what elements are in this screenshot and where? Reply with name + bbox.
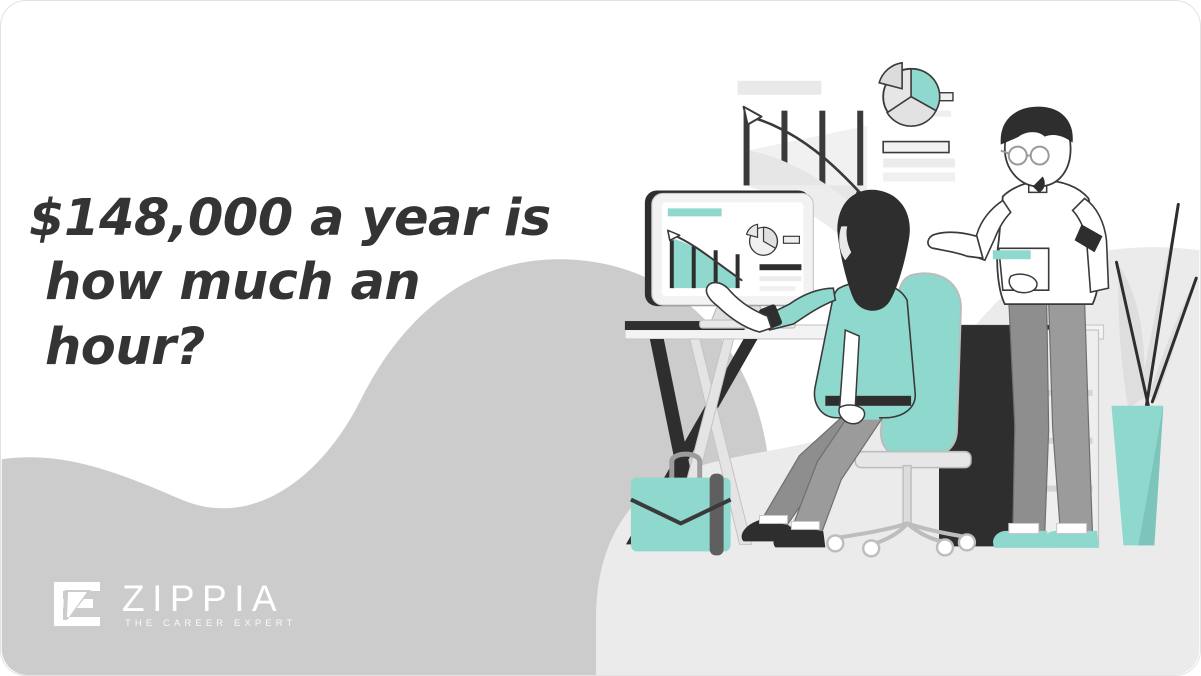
screen-text-bar-3 xyxy=(760,286,796,291)
headline-line-1: $148,000 a year is xyxy=(29,187,569,251)
placeholder-bar-2 xyxy=(883,159,955,168)
placeholder-bar-top xyxy=(738,81,822,95)
pointing-hand-man xyxy=(928,232,983,258)
brand-name: ZIPPIA xyxy=(122,580,296,618)
paper-highlight xyxy=(993,250,1031,259)
screen-text-bar-2 xyxy=(760,276,802,281)
placeholder-bar-3 xyxy=(883,172,955,181)
screen-title-bar xyxy=(668,208,722,216)
zippia-z-monogram-icon xyxy=(51,579,103,631)
page-title: $148,000 a year is how much an hour? xyxy=(29,187,569,380)
brand-tagline: THE CAREER EXPERT xyxy=(122,618,296,629)
trend-arrowhead xyxy=(744,107,762,125)
headline-line-2: how much an hour? xyxy=(29,251,569,380)
brand-logo[interactable]: ZIPPIA THE CAREER EXPERT xyxy=(51,579,296,631)
placeholder-bar-outlined xyxy=(883,142,949,153)
salary-info-card: $148,000 a year is how much an hour? ZIP… xyxy=(0,0,1201,676)
screen-legend-bar xyxy=(783,236,799,243)
screen-text-bar-1 xyxy=(760,264,802,270)
floating-pie-chart xyxy=(879,63,940,126)
brand-wordmark: ZIPPIA THE CAREER EXPERT xyxy=(122,580,296,629)
